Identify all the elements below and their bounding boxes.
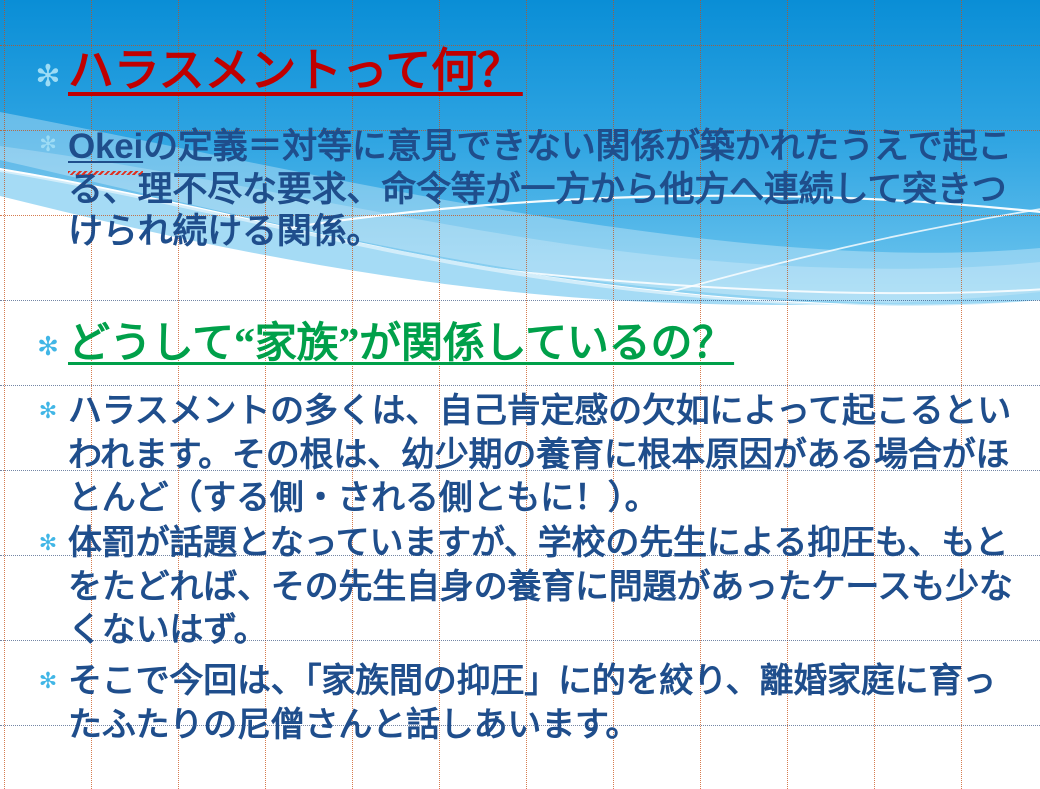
paragraph-one-text: Okeiの定義＝対等に意見できない関係が築かれたうえで起こる、理不尽な要求、命令… — [68, 126, 1018, 254]
slide-content: ✻ ハラスメントって何？ ✻ Okeiの定義＝対等に意見できない関係が築かれたう… — [0, 0, 1040, 789]
asterisk-bullet-icon: ✻ — [28, 522, 68, 554]
heading-one-text: ハラスメントって何？ — [68, 48, 1008, 95]
okei-token-spellchecked: Okei — [68, 127, 143, 166]
paragraph-three-text: 体罰が話題となっていますが、学校の先生による抑圧も、もとをたどれば、その先生自身… — [68, 522, 1018, 653]
asterisk-bullet-icon: ✻ — [28, 48, 68, 92]
paragraph-one-row: ✻ Okeiの定義＝対等に意見できない関係が築かれたうえで起こる、理不尽な要求、… — [28, 126, 1018, 254]
paragraph-two-text: ハラスメントの多くは、自己肯定感の欠如によって起こるといわれます。その根は、幼少… — [68, 390, 1018, 521]
asterisk-bullet-icon: ✻ — [28, 660, 68, 692]
paragraph-two-row: ✻ ハラスメントの多くは、自己肯定感の欠如によって起こるといわれます。その根は、… — [28, 390, 1018, 521]
asterisk-bullet-icon: ✻ — [28, 390, 68, 422]
paragraph-one-rest: の定義＝対等に意見できない関係が築かれたうえで起こる、理不尽な要求、命令等が一方… — [68, 127, 1012, 251]
heading-two-row: ✻ どうして“家族”が関係しているの？ — [28, 322, 1018, 366]
asterisk-bullet-icon: ✻ — [28, 126, 68, 155]
heading-two-text: どうして“家族”が関係しているの？ — [68, 322, 1018, 366]
presentation-slide: ✻ ハラスメントって何？ ✻ Okeiの定義＝対等に意見できない関係が築かれたう… — [0, 0, 1040, 789]
paragraph-four-row: ✻ そこで今回は、「家族間の抑圧」に的を絞り、離婚家庭に育ったふたりの尼僧さんと… — [28, 660, 1018, 747]
asterisk-bullet-icon: ✻ — [28, 322, 68, 360]
paragraph-four-text: そこで今回は、「家族間の抑圧」に的を絞り、離婚家庭に育ったふたりの尼僧さんと話し… — [68, 660, 1018, 747]
heading-one-row: ✻ ハラスメントって何？ — [28, 48, 1008, 95]
paragraph-three-row: ✻ 体罰が話題となっていますが、学校の先生による抑圧も、もとをたどれば、その先生… — [28, 522, 1018, 653]
